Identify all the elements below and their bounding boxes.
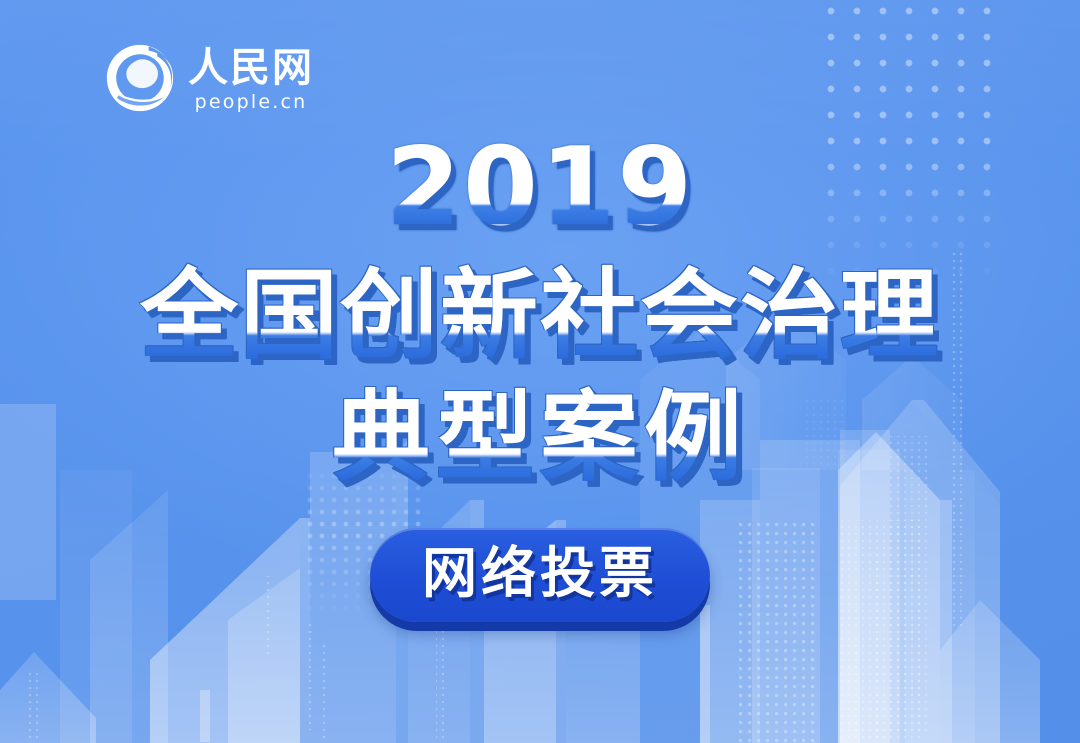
logo-wordmark: 人民网 people.cn bbox=[188, 42, 314, 113]
headline-line-1: 全国创新社会治理 bbox=[0, 258, 1080, 374]
people-cn-logo[interactable]: 人民网 people.cn bbox=[104, 42, 314, 114]
headline-line-2: 典型案例 bbox=[0, 380, 1080, 496]
logo-name-cn: 人民网 bbox=[188, 46, 314, 90]
headline-year: 2019 bbox=[0, 132, 1080, 244]
poster-canvas: 人民网 people.cn 2019 全国创新社会治理 典型案例 网络投票 bbox=[0, 0, 1080, 743]
people-cn-globe-icon bbox=[104, 42, 176, 114]
page-title: 2019 全国创新社会治理 典型案例 bbox=[0, 132, 1080, 496]
online-vote-button-label: 网络投票 bbox=[422, 544, 658, 602]
cta-container: 网络投票 bbox=[0, 528, 1080, 622]
logo-name-latin: people.cn bbox=[195, 92, 308, 113]
online-vote-button[interactable]: 网络投票 bbox=[370, 528, 710, 622]
